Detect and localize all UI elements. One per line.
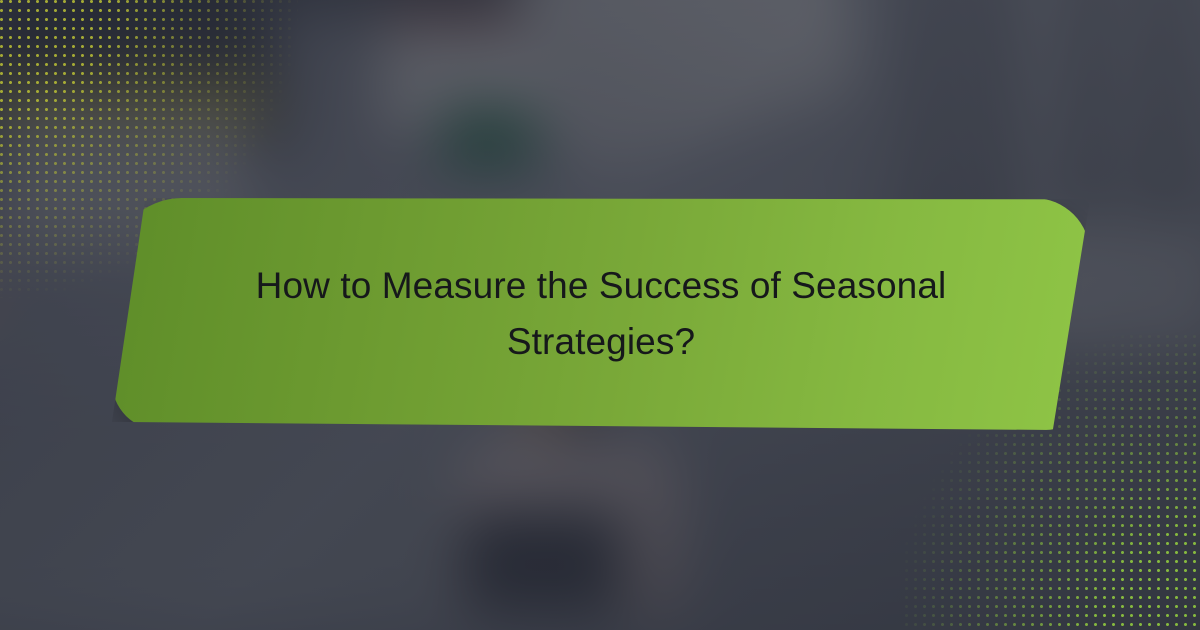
title-card-wrapper: How to Measure the Success of Seasonal S…: [0, 0, 1200, 630]
share-card-canvas: How to Measure the Success of Seasonal S…: [0, 0, 1200, 630]
title-card-content: How to Measure the Success of Seasonal S…: [112, 198, 1090, 430]
page-title: How to Measure the Success of Seasonal S…: [221, 258, 981, 370]
